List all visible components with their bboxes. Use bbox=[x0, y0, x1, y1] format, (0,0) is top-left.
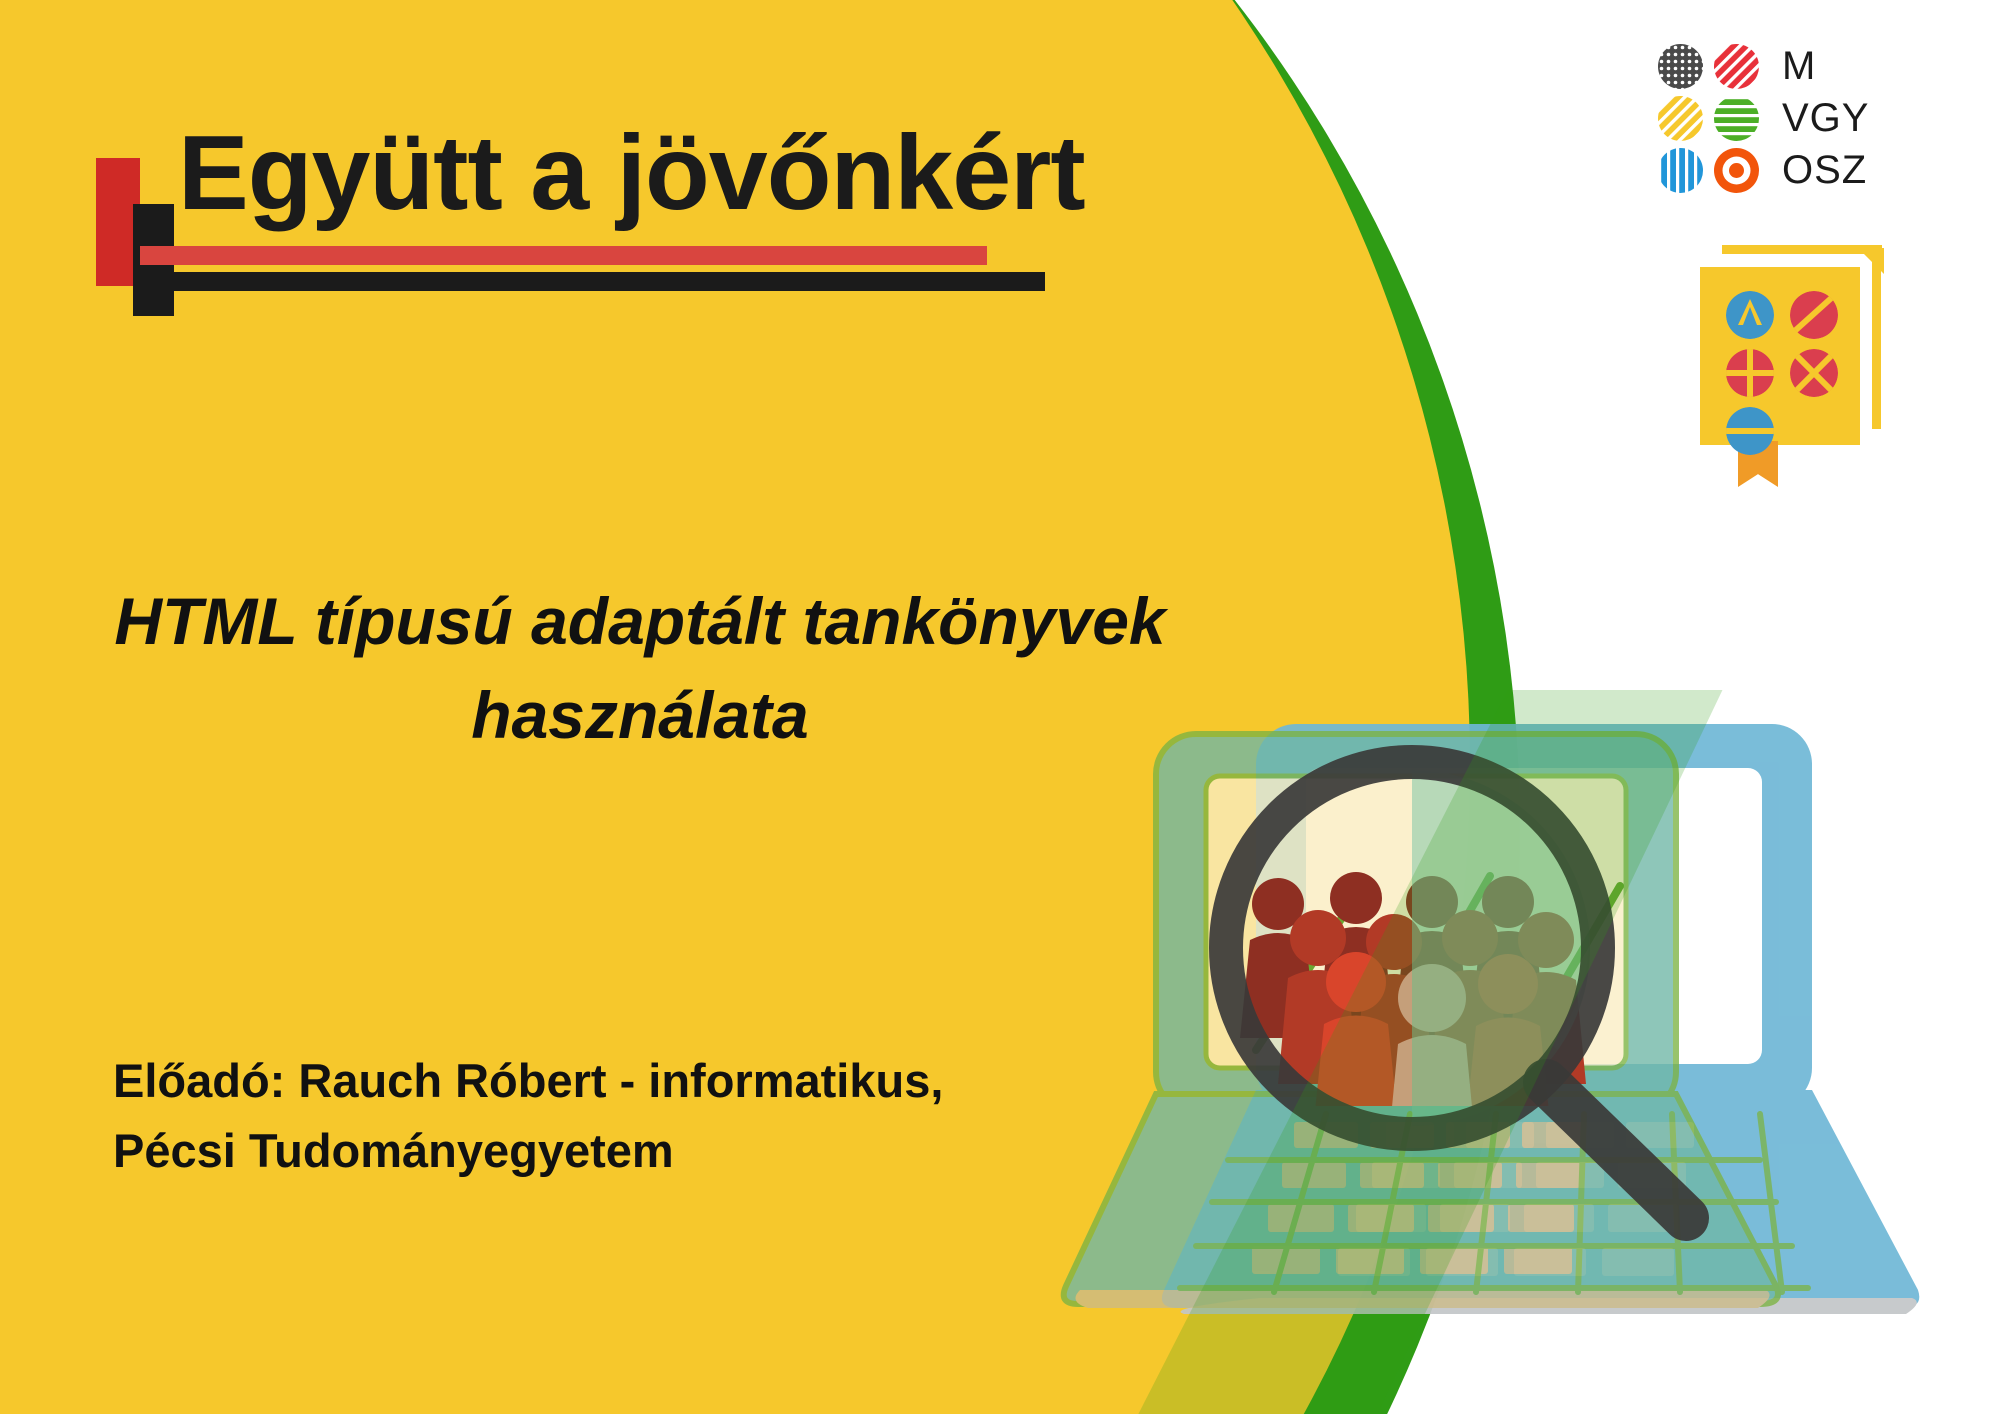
braille-cell-red-x-icon bbox=[1790, 349, 1838, 397]
book-top-edge bbox=[1722, 245, 1882, 254]
presentation-slide: Együtt a jövőnkért HTML típusú adaptált … bbox=[0, 0, 2000, 1414]
dotted-dark-circle-icon bbox=[1658, 44, 1703, 89]
subtitle-line-2: használata bbox=[471, 678, 808, 752]
vertical-blue-circle-icon bbox=[1658, 148, 1703, 193]
logo-line-vgy: VGY bbox=[1782, 92, 1912, 144]
presenter-line-1: Előadó: Rauch Róbert - informatikus, bbox=[113, 1054, 943, 1107]
page-title: Együtt a jövőnkért bbox=[178, 120, 1085, 226]
logo-wordmark: M VGY OSZ bbox=[1782, 40, 1912, 196]
diagonal-red-circle-icon bbox=[1714, 44, 1759, 89]
book-side-edge bbox=[1872, 251, 1881, 429]
horizontal-green-circle-icon bbox=[1714, 96, 1759, 141]
braille-cell-blue-a-icon bbox=[1726, 291, 1774, 339]
book-braille-cells bbox=[1726, 291, 1844, 455]
decor-rule-black bbox=[140, 272, 1045, 291]
laptop-magnifier-illustration bbox=[1060, 690, 2000, 1414]
braille-cell-red-plus-icon bbox=[1726, 349, 1774, 397]
logo-line-m: M bbox=[1782, 40, 1912, 92]
braille-cell-blue-bar-icon bbox=[1726, 407, 1774, 455]
logo-line-osz: OSZ bbox=[1782, 144, 1912, 196]
decor-rule-red bbox=[140, 246, 987, 265]
subtitle-line-1: HTML típusú adaptált tankönyvek bbox=[114, 584, 1165, 658]
presenter-info: Előadó: Rauch Róbert - informatikus, Péc… bbox=[113, 1046, 1123, 1185]
subtitle: HTML típusú adaptált tankönyvek használa… bbox=[60, 575, 1220, 762]
target-orange-circle-icon bbox=[1714, 148, 1759, 193]
illustration-svg bbox=[1060, 690, 2000, 1414]
braille-cell-red-slash-icon bbox=[1790, 291, 1838, 339]
title-block: Együtt a jövőnkért bbox=[0, 0, 1100, 420]
mvgyosz-logo: M VGY OSZ bbox=[1652, 40, 1912, 210]
diagonal-yellow-circle-icon bbox=[1658, 96, 1703, 141]
braille-book-icon bbox=[1700, 245, 1885, 460]
presenter-line-2: Pécsi Tudományegyetem bbox=[113, 1124, 674, 1177]
logo-dot-grid bbox=[1652, 40, 1764, 196]
